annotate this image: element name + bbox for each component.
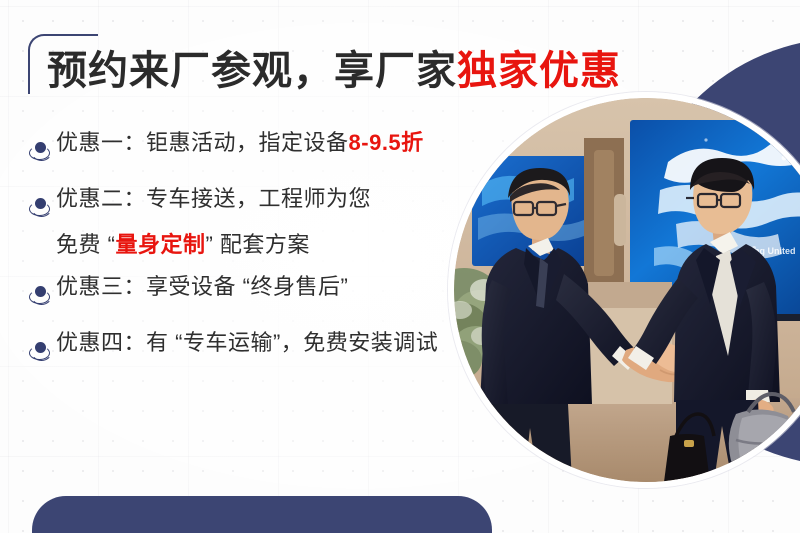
navy-bottom-bar [32,496,492,533]
list-item-line: 免费 “量身定制” 配套方案 [56,234,371,256]
list-item-line: 优惠一：钜惠活动，指定设备8-9.5折 [56,132,424,154]
text-suffix: ” 配套方案 [205,232,309,257]
list-item: 优惠四：有 “专车运输”，免费安装调试 [30,332,480,368]
list-item-line: 优惠四：有 “专车运输”，免费安装调试 [56,332,438,354]
list-item-line: 优惠二：专车接送，工程师为您 [56,188,371,210]
benefits-list: 优惠一：钜惠活动，指定设备8-9.5折 优惠二：专车接送，工程师为您 免费 “量… [30,132,480,388]
list-item-text: 优惠三：享受设备 “终身售后” [56,276,348,298]
list-item: 优惠一：钜惠活动，指定设备8-9.5折 [30,132,480,168]
text-prefix: 优惠二：专车接送，工程师为您 [56,186,371,211]
text-prefix: 优惠一：钜惠活动，指定设备 [56,130,349,155]
text-prefix: 免费 “ [56,232,115,257]
eye-dot-marker-icon [30,194,56,224]
eye-dot-marker-icon [30,282,56,312]
promo-banner: 预约来厂参观，享厂家独家优惠 优惠一：钜惠活动，指定设备8-9.5折 优惠二：专… [0,0,800,533]
headline-red-text: 独家优惠 [457,49,621,93]
handshake-photo-inner: ng United ited [454,98,800,482]
headline-black-text: 预约来厂参观，享厂家 [47,49,457,93]
text-emphasis: 8-9.5折 [349,130,424,155]
list-item: 优惠二：专车接送，工程师为您 免费 “量身定制” 配套方案 [30,188,480,256]
list-item-line: 优惠三：享受设备 “终身售后” [56,276,348,298]
eye-dot-marker-icon [30,138,56,168]
handshake-illustration: ng United ited [454,98,800,482]
list-item-text: 优惠一：钜惠活动，指定设备8-9.5折 [56,132,424,154]
page-title: 预约来厂参观，享厂家独家优惠 [47,48,621,94]
list-item-text: 优惠四：有 “专车运输”，免费安装调试 [56,332,438,354]
text-prefix: 优惠三：享受设备 “终身售后” [56,274,348,299]
list-item: 优惠三：享受设备 “终身售后” [30,276,480,312]
text-emphasis: 量身定制 [115,232,205,257]
list-item-text: 优惠二：专车接送，工程师为您 免费 “量身定制” 配套方案 [56,188,371,256]
eye-dot-marker-icon [30,338,56,368]
text-prefix: 优惠四：有 “专车运输”，免费安装调试 [56,330,438,355]
